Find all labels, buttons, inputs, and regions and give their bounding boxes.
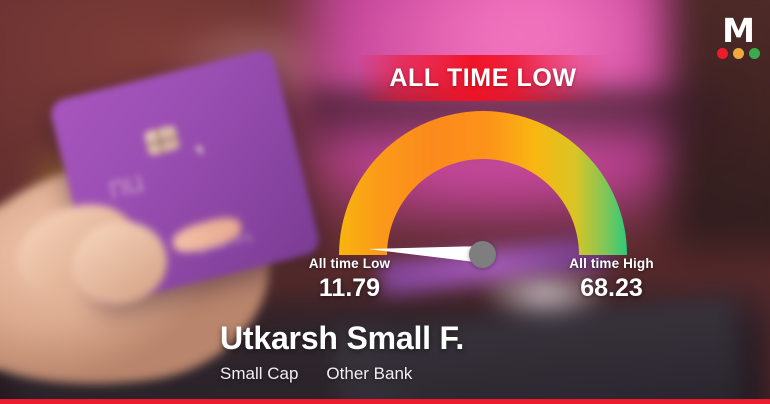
fund-info: Utkarsh Small F. Small Cap Other Bank [220,322,464,384]
fund-category: Small Cap [220,364,298,384]
moneycontrol-logo: M [712,17,764,63]
all-time-high-readout: All time High 68.23 [553,256,670,303]
fund-type: Other Bank [326,364,412,384]
all-time-low-caption: All time Low [292,256,407,271]
promo-card: nu SANTOS ALL TIME LOW [0,0,770,404]
all-time-low-readout: All time Low 11.79 [292,256,407,303]
bottom-accent-bar [0,399,770,404]
all-time-high-value: 68.23 [553,274,670,303]
fund-name: Utkarsh Small F. [220,322,464,356]
fund-meta: Small Cap Other Bank [220,364,464,384]
all-time-high-caption: All time High [553,256,670,271]
logo-dot-green [749,48,760,59]
all-time-low-value: 11.79 [292,274,407,303]
banner-label: ALL TIME LOW [389,64,576,93]
logo-dot-orange [733,48,744,59]
gauge-needle-hub [469,241,496,268]
all-time-low-banner: ALL TIME LOW [357,55,609,101]
logo-letter: M [712,17,764,44]
logo-dots [712,48,764,59]
logo-dot-red [717,48,728,59]
